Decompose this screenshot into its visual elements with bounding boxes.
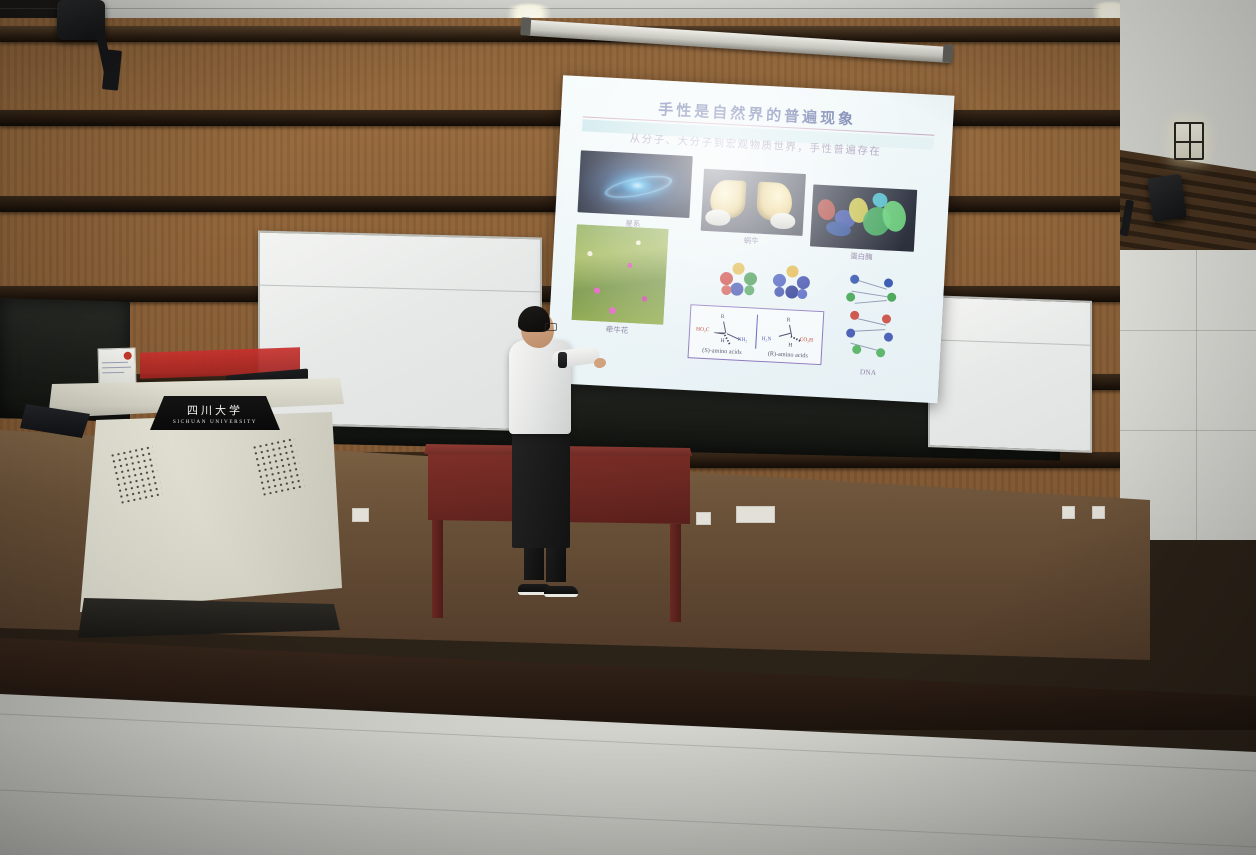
projection-screen: 手性是自然界的普遍现象 从分子、大分子到宏观物质世界，手性普遍存在 星系 蜗牛 — [519, 12, 962, 395]
slide-content: 手性是自然界的普遍现象 从分子、大分子到宏观物质世界，手性普遍存在 星系 蜗牛 — [546, 75, 955, 403]
dna-caption: DNA — [839, 366, 897, 378]
tile-seam — [1120, 330, 1256, 331]
dna-node — [852, 345, 861, 354]
lectern-vent — [109, 444, 163, 504]
plaque-chinese-text: 四川大学 — [187, 402, 243, 418]
galaxy-image — [577, 150, 692, 218]
dna-node — [876, 348, 885, 357]
molecule-model-left — [717, 260, 763, 302]
atom — [719, 272, 733, 286]
atom-label-h-left: H — [720, 338, 724, 344]
dna-node — [882, 314, 891, 323]
dna-node — [887, 293, 896, 302]
snail-image — [701, 169, 806, 236]
atom — [743, 272, 757, 286]
lecture-hall-photo: 手性是自然界的普遍现象 从分子、大分子到宏观物质世界，手性普遍存在 星系 蜗牛 — [0, 0, 1256, 855]
notice-logo — [124, 352, 132, 360]
dna-node — [884, 278, 893, 287]
dna-rung — [855, 300, 887, 304]
presenter-shoe — [544, 586, 578, 597]
atom — [786, 265, 799, 278]
atom-label-acid-left: HO₂C — [696, 327, 710, 334]
dna-helix-image — [839, 272, 902, 367]
dna-rung — [851, 291, 889, 298]
whiteboard-seam — [260, 285, 540, 293]
dna-node — [846, 292, 855, 301]
atom-label-r-left: R — [721, 314, 725, 320]
presenter-trousers — [512, 428, 570, 548]
morning-glory-image — [571, 224, 668, 325]
wall-note — [1062, 506, 1075, 519]
table-leg — [432, 520, 443, 618]
wall-note — [736, 506, 775, 523]
screen-surface: 手性是自然界的普遍现象 从分子、大分子到宏观物质世界，手性普遍存在 星系 蜗牛 — [546, 75, 955, 403]
wall-note — [696, 512, 711, 525]
eyeglasses — [545, 323, 557, 331]
wall-lamp — [1174, 122, 1204, 160]
snail-body — [705, 209, 730, 226]
atom — [774, 287, 785, 298]
dna-node — [850, 275, 859, 284]
notice-text-line — [102, 362, 128, 364]
atom-label-h-right: H — [788, 342, 792, 348]
microphone — [558, 352, 567, 368]
protein-image — [810, 184, 917, 251]
flower-caption: 牵牛花 — [571, 322, 663, 338]
snail-body — [770, 212, 795, 229]
multimedia-lectern-body — [80, 412, 342, 612]
roller-end-cap — [520, 17, 531, 36]
atom-label-amine-right: H₂N — [762, 336, 772, 342]
atom — [773, 274, 787, 288]
amino-label-s: (S)-amino acids — [689, 346, 755, 356]
plaque-english-text: SICHUAN UNIVERSITY — [173, 419, 257, 425]
notice-text-line — [102, 367, 131, 369]
atom — [721, 285, 732, 296]
atom — [732, 262, 745, 275]
university-plaque: 四川大学 SICHUAN UNIVERSITY — [150, 396, 280, 430]
molecule-model-right — [767, 262, 813, 304]
wall-speaker — [1147, 174, 1187, 222]
bond — [723, 321, 726, 333]
atom — [797, 276, 811, 290]
atom-label-amine-left: NH₂ — [737, 337, 747, 343]
amino-acid-diagram: R HO₂C H NH₂ (S)-amino acids R H₂N H — [687, 304, 824, 365]
notice-text-line — [102, 372, 124, 374]
dna-rung — [853, 329, 885, 332]
atom — [744, 285, 755, 296]
side-wall-tile — [1120, 250, 1256, 540]
atom-label-r-right: R — [787, 317, 791, 323]
atom-label-acid-right: CO₂H — [800, 337, 814, 344]
dna-node — [846, 328, 855, 337]
roller-end-cap — [942, 44, 953, 63]
dna-node — [884, 332, 893, 341]
diagram-divider — [755, 315, 758, 349]
ceiling-seam — [0, 8, 1256, 9]
wall-note — [352, 508, 369, 522]
amino-label-r: (R)-amino acids — [755, 350, 821, 360]
atom — [730, 283, 744, 297]
atom — [797, 289, 808, 300]
bond — [779, 333, 791, 337]
tile-seam — [1196, 250, 1197, 540]
screen-roller-housing — [524, 20, 952, 64]
tile-seam — [1120, 430, 1256, 431]
notice-card — [98, 348, 137, 385]
wall-note — [1092, 506, 1105, 519]
table-leg — [670, 524, 681, 622]
lectern-vent — [251, 436, 305, 496]
